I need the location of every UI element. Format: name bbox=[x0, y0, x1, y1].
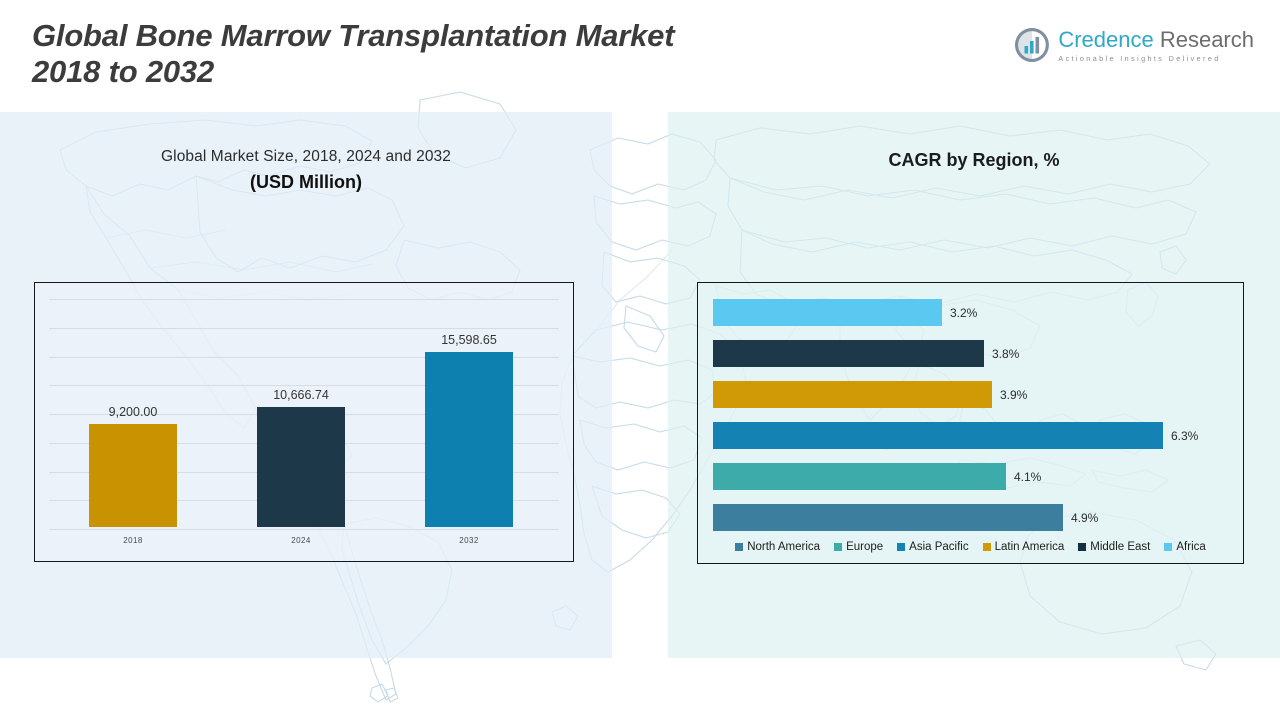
bar-plot-area: 3.2%3.8%3.9%6.3%4.1%4.9% bbox=[698, 283, 1243, 563]
legend-item[interactable]: Africa bbox=[1164, 541, 1205, 553]
credence-research-logo[interactable]: Credence Research Actionable Insights De… bbox=[1015, 22, 1254, 68]
legend-label: Middle East bbox=[1090, 541, 1150, 553]
bar-value-label: 3.2% bbox=[950, 306, 977, 320]
bar-row: 6.3% bbox=[713, 422, 1163, 449]
right-chart-title: CAGR by Region, % bbox=[668, 150, 1280, 171]
left-chart-title-line1: Global Market Size, 2018, 2024 and 2032 bbox=[0, 148, 612, 166]
bar-row: 3.8% bbox=[713, 340, 984, 367]
column-group: 9,200.002018 bbox=[89, 424, 177, 527]
legend-label: North America bbox=[747, 541, 820, 553]
legend-item[interactable]: Asia Pacific bbox=[897, 541, 968, 553]
horizontal-bar bbox=[713, 504, 1063, 531]
logo-text: Credence Research Actionable Insights De… bbox=[1058, 28, 1254, 63]
logo-name: Credence Research bbox=[1058, 28, 1254, 52]
legend-item[interactable]: North America bbox=[735, 541, 820, 553]
bar-chart-circle-icon bbox=[1015, 28, 1049, 62]
column-value-label: 10,666.74 bbox=[273, 388, 329, 402]
column-group: 10,666.742024 bbox=[257, 407, 345, 527]
bar-row: 4.9% bbox=[713, 504, 1063, 531]
logo-name-part2: Research bbox=[1154, 27, 1254, 52]
bar-value-label: 6.3% bbox=[1171, 429, 1198, 443]
legend-swatch bbox=[834, 543, 842, 551]
column-bar bbox=[89, 424, 177, 527]
horizontal-bar bbox=[713, 381, 992, 408]
column-category-label: 2032 bbox=[459, 536, 478, 545]
legend-label: Latin America bbox=[995, 541, 1065, 553]
horizontal-bar bbox=[713, 340, 984, 367]
legend-label: Africa bbox=[1176, 541, 1205, 553]
horizontal-bar bbox=[713, 463, 1006, 490]
column-plot-area: 9,200.00201810,666.74202415,598.652032 bbox=[35, 283, 573, 561]
legend-label: Europe bbox=[846, 541, 883, 553]
legend-item[interactable]: Middle East bbox=[1078, 541, 1150, 553]
header: Global Bone Marrow Transplantation Marke… bbox=[0, 0, 1280, 112]
logo-name-part1: Credence bbox=[1058, 27, 1153, 52]
column-group: 15,598.652032 bbox=[425, 352, 513, 527]
horizontal-bar bbox=[713, 422, 1163, 449]
bar-value-label: 4.9% bbox=[1071, 511, 1098, 525]
bar-value-label: 3.9% bbox=[1000, 388, 1027, 402]
bar-row: 4.1% bbox=[713, 463, 1006, 490]
bar-value-label: 4.1% bbox=[1014, 470, 1041, 484]
legend-item[interactable]: Latin America bbox=[983, 541, 1065, 553]
page-title-line1: Global Bone Marrow Transplantation Marke… bbox=[32, 18, 674, 53]
legend-label: Asia Pacific bbox=[909, 541, 968, 553]
market-size-column-chart: 9,200.00201810,666.74202415,598.652032 bbox=[34, 282, 574, 562]
logo-tagline: Actionable Insights Delivered bbox=[1058, 54, 1254, 63]
column-category-label: 2018 bbox=[123, 536, 142, 545]
legend-swatch bbox=[983, 543, 991, 551]
column-bar bbox=[425, 352, 513, 527]
page-title: Global Bone Marrow Transplantation Marke… bbox=[32, 18, 972, 91]
left-chart-title: Global Market Size, 2018, 2024 and 2032 … bbox=[0, 148, 612, 193]
bar-row: 3.9% bbox=[713, 381, 992, 408]
legend-swatch bbox=[735, 543, 743, 551]
bar-value-label: 3.8% bbox=[992, 347, 1019, 361]
column-value-label: 9,200.00 bbox=[109, 405, 158, 419]
legend-swatch bbox=[897, 543, 905, 551]
column-value-label: 15,598.65 bbox=[441, 333, 497, 347]
horizontal-bar bbox=[713, 299, 942, 326]
infographic-canvas: Global Bone Marrow Transplantation Marke… bbox=[0, 0, 1280, 720]
column-bar bbox=[257, 407, 345, 527]
bar-row: 3.2% bbox=[713, 299, 942, 326]
left-chart-title-line2: (USD Million) bbox=[0, 172, 612, 193]
page-title-line2: 2018 to 2032 bbox=[32, 54, 972, 90]
legend-swatch bbox=[1078, 543, 1086, 551]
cagr-bar-chart: 3.2%3.8%3.9%6.3%4.1%4.9% North AmericaEu… bbox=[697, 282, 1244, 564]
legend-swatch bbox=[1164, 543, 1172, 551]
chart-legend: North AmericaEuropeAsia PacificLatin Ame… bbox=[698, 541, 1243, 553]
legend-item[interactable]: Europe bbox=[834, 541, 883, 553]
column-category-label: 2024 bbox=[291, 536, 310, 545]
